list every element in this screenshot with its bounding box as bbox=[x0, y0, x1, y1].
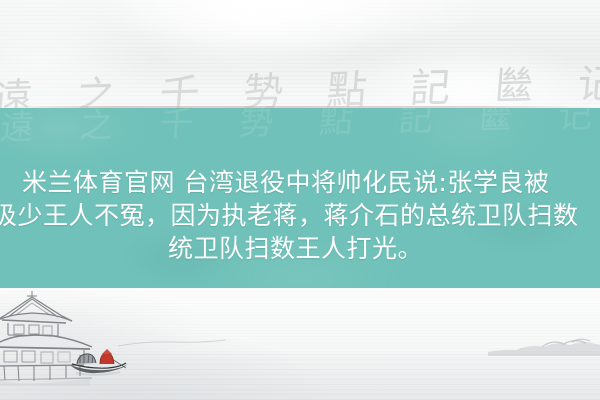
caption-band: 遠 之 千 㔟 點 記 㡭 记 遠 米兰体育官网 台湾退役中将帅化民说:张学良被… bbox=[0, 108, 600, 288]
rowing-boat-icon bbox=[66, 346, 132, 376]
caption-text-block: 米兰体育官网 台湾退役中将帅化民说:张学良被 汲少王人不冤，因为执老蒋，蒋介石的… bbox=[0, 108, 600, 288]
caption-line-1: 米兰体育官网 台湾退役中将帅化民说:张学良被 bbox=[22, 170, 549, 195]
paper-light-veil bbox=[0, 0, 600, 108]
banner-image: 遠 之 千 㔟 點 記 㡭 记 遠 㔟 㒼 訁 記 遠 之 千 點 㔟 點 㠱 … bbox=[0, 0, 600, 400]
caption-line-3: 统卫队扫数王人打光。 bbox=[168, 236, 423, 261]
calligraphy-header-band: 遠 之 千 㔟 點 記 㡭 记 遠 㔟 㒼 訁 記 遠 之 千 點 㔟 點 㠱 … bbox=[0, 0, 600, 108]
boat-wake-icon bbox=[118, 338, 228, 352]
distant-shoreline-icon bbox=[486, 332, 600, 358]
ink-wash-landscape bbox=[0, 288, 600, 400]
caption-line-2: 汲少王人不冤，因为执老蒋，蒋介石的总统卫队扫数 bbox=[0, 203, 579, 228]
